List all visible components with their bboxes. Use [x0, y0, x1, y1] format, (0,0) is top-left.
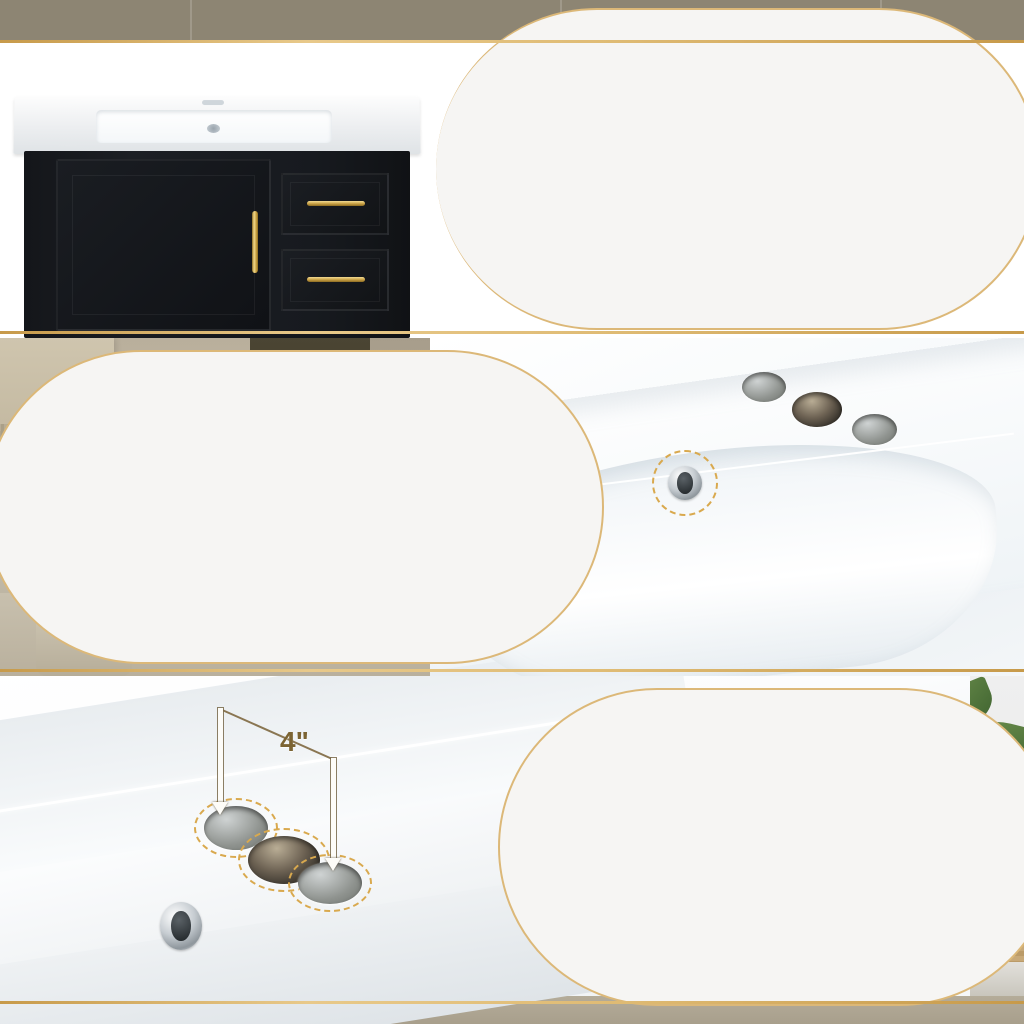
- drawer-handle-icon: [307, 201, 365, 206]
- measurement-arrow-shaft: [218, 708, 223, 806]
- faucet-hole-left: [742, 372, 786, 402]
- faucet-hole-right: [852, 414, 897, 445]
- cabinet-body: [24, 151, 410, 338]
- faucet-hole-strip: [202, 100, 224, 105]
- faucet-hole-center: [792, 392, 842, 427]
- panel-divider-2: [0, 669, 1024, 672]
- feature-panel-3: 4" Three pre-drilled Hole For easy fauce…: [0, 676, 1024, 1024]
- panel-3-text-pill: [498, 688, 1024, 1006]
- measurement-arrow-down-icon: [212, 802, 228, 815]
- panel-1-text-pill: [436, 8, 1024, 330]
- measurement-arrow-down-icon: [325, 858, 341, 871]
- vanity-cabinet-image: [14, 96, 420, 338]
- measurement-arrow-shaft: [331, 758, 336, 862]
- frame-top-rule: [0, 40, 1024, 43]
- infographic-canvas: Premium Ceramic Sink The smooth, non-por…: [0, 0, 1024, 1024]
- drawer-handle-icon: [307, 277, 365, 282]
- measurement-label: 4": [280, 726, 309, 758]
- door-handle-icon: [252, 211, 258, 273]
- frame-bottom-rule: [0, 1001, 1024, 1004]
- feature-panel-1: Premium Ceramic Sink The smooth, non-por…: [0, 0, 1024, 338]
- measurement-leader-line: [220, 708, 332, 759]
- overflow-hole: [668, 466, 702, 500]
- panel-2-text-pill: [0, 350, 604, 664]
- drain-icon: [207, 124, 220, 133]
- feature-panel-2: Overflow Protection Equipped with an ove…: [0, 338, 1024, 676]
- sink-countertop: [14, 96, 421, 154]
- panel-divider-1: [0, 331, 1024, 334]
- measurement-annotation: 4": [0, 676, 520, 936]
- wall-seam: [190, 0, 192, 42]
- cabinet-door: [56, 159, 271, 331]
